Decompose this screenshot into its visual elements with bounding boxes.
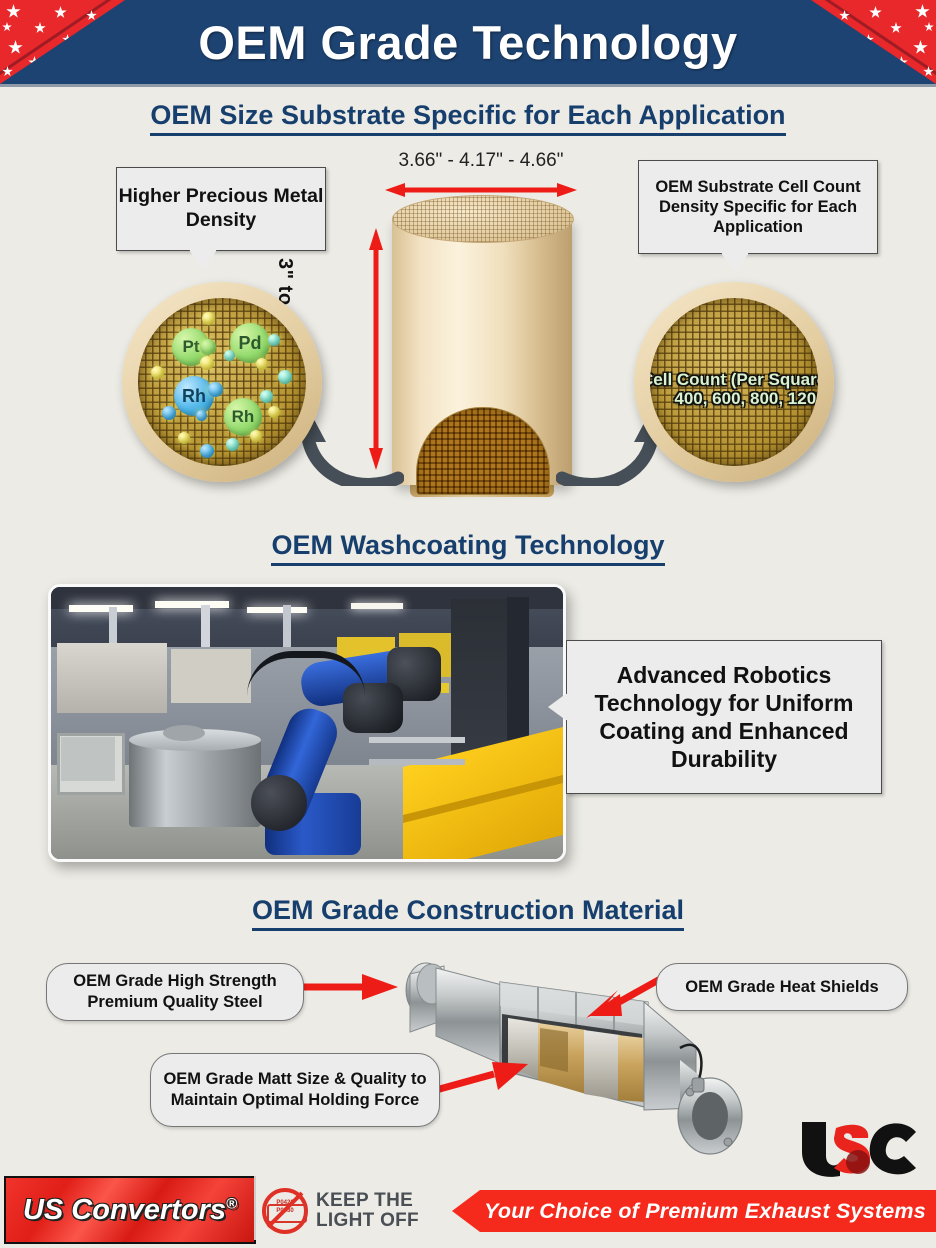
particle-dot	[256, 358, 268, 370]
keep-light-off-badge: P0420 P0430 KEEP THE LIGHT OFF	[262, 1186, 442, 1236]
cell-count-values: 400, 600, 800, 1200	[650, 389, 818, 408]
particle-dot	[260, 390, 273, 403]
cell-count-label: Cell Count (Per Square Inch)	[650, 370, 818, 389]
no-check-engine-light-icon: P0420 P0430	[262, 1188, 308, 1234]
particle-dot	[202, 312, 215, 325]
callout-matt-size: OEM Grade Matt Size & Quality to Maintai…	[150, 1053, 440, 1127]
callout-robotics-text: Advanced Robotics Technology for Uniform…	[567, 661, 881, 773]
arrow-heat-shield-icon	[586, 972, 662, 1020]
callout-advanced-robotics: Advanced Robotics Technology for Uniform…	[566, 640, 882, 794]
usc-logo	[796, 1118, 920, 1180]
factory-robot-photo	[48, 584, 566, 862]
particle-dot	[196, 410, 207, 421]
callout-cellcount-text: OEM Substrate Cell Count Density Specifi…	[639, 177, 877, 237]
section-title-substrate: OEM Size Substrate Specific for Each App…	[0, 100, 936, 131]
keep-light-line1: KEEP THE	[316, 1191, 419, 1211]
header-divider	[0, 84, 936, 87]
particle-dot	[226, 438, 239, 451]
page-title: OEM Grade Technology	[0, 0, 936, 84]
tagline-banner: Your Choice of Premium Exhaust Systems	[452, 1190, 936, 1232]
arrow-matt-icon	[436, 1062, 528, 1096]
particle-rh: Rh	[174, 376, 214, 416]
callout-precious-text: Higher Precious Metal Density	[117, 185, 325, 233]
particle-pd: Pd	[230, 323, 270, 363]
brand-name: US Convertors®	[23, 1194, 237, 1227]
particle-dot	[224, 350, 235, 361]
callout-steel-text: OEM Grade High Strength Premium Quality …	[47, 971, 303, 1012]
keep-light-line2: LIGHT OFF	[316, 1211, 419, 1231]
substrate-cylinder-illustration	[392, 195, 572, 495]
particle-dot	[151, 366, 164, 379]
section-title-construction: OEM Grade Construction Material	[0, 895, 936, 926]
particle-dot	[200, 339, 216, 355]
arrow-steel-icon	[300, 974, 398, 1000]
callout-premium-steel: OEM Grade High Strength Premium Quality …	[46, 963, 304, 1021]
particle-dot	[268, 406, 280, 418]
substrate-face-precious-metals: PtPdRhRh	[122, 282, 322, 482]
particle-dot	[208, 382, 223, 397]
keep-light-off-text: KEEP THE LIGHT OFF	[316, 1191, 419, 1231]
callout-heat-shields: OEM Grade Heat Shields	[656, 963, 908, 1011]
particle-dot	[200, 356, 214, 370]
dimension-width-label: 3.66" - 4.17" - 4.66"	[381, 150, 581, 172]
particle-dot	[268, 334, 280, 346]
substrate-face-cell-count: Cell Count (Per Square Inch) 400, 600, 8…	[634, 282, 834, 482]
brand-logo-box: US Convertors®	[4, 1176, 256, 1244]
callout-precious-metal-density: Higher Precious Metal Density	[116, 167, 326, 251]
particle-dot	[178, 432, 190, 444]
callout-matt-text: OEM Grade Matt Size & Quality to Maintai…	[151, 1069, 439, 1110]
particle-dot	[278, 370, 292, 384]
particle-dot	[162, 406, 176, 420]
brand-name-text: US Convertors	[23, 1194, 226, 1226]
callout-cell-count-density: OEM Substrate Cell Count Density Specifi…	[638, 160, 878, 254]
particle-dot	[200, 444, 214, 458]
section-title-washcoating: OEM Washcoating Technology	[0, 530, 936, 561]
callout-heat-text: OEM Grade Heat Shields	[685, 977, 878, 998]
footer-divider	[254, 1176, 256, 1240]
registered-mark: ®	[226, 1195, 237, 1212]
page-header: OEM Grade Technology	[0, 0, 936, 84]
tagline-text: Your Choice of Premium Exhaust Systems	[462, 1199, 926, 1224]
particle-dot	[250, 430, 262, 442]
